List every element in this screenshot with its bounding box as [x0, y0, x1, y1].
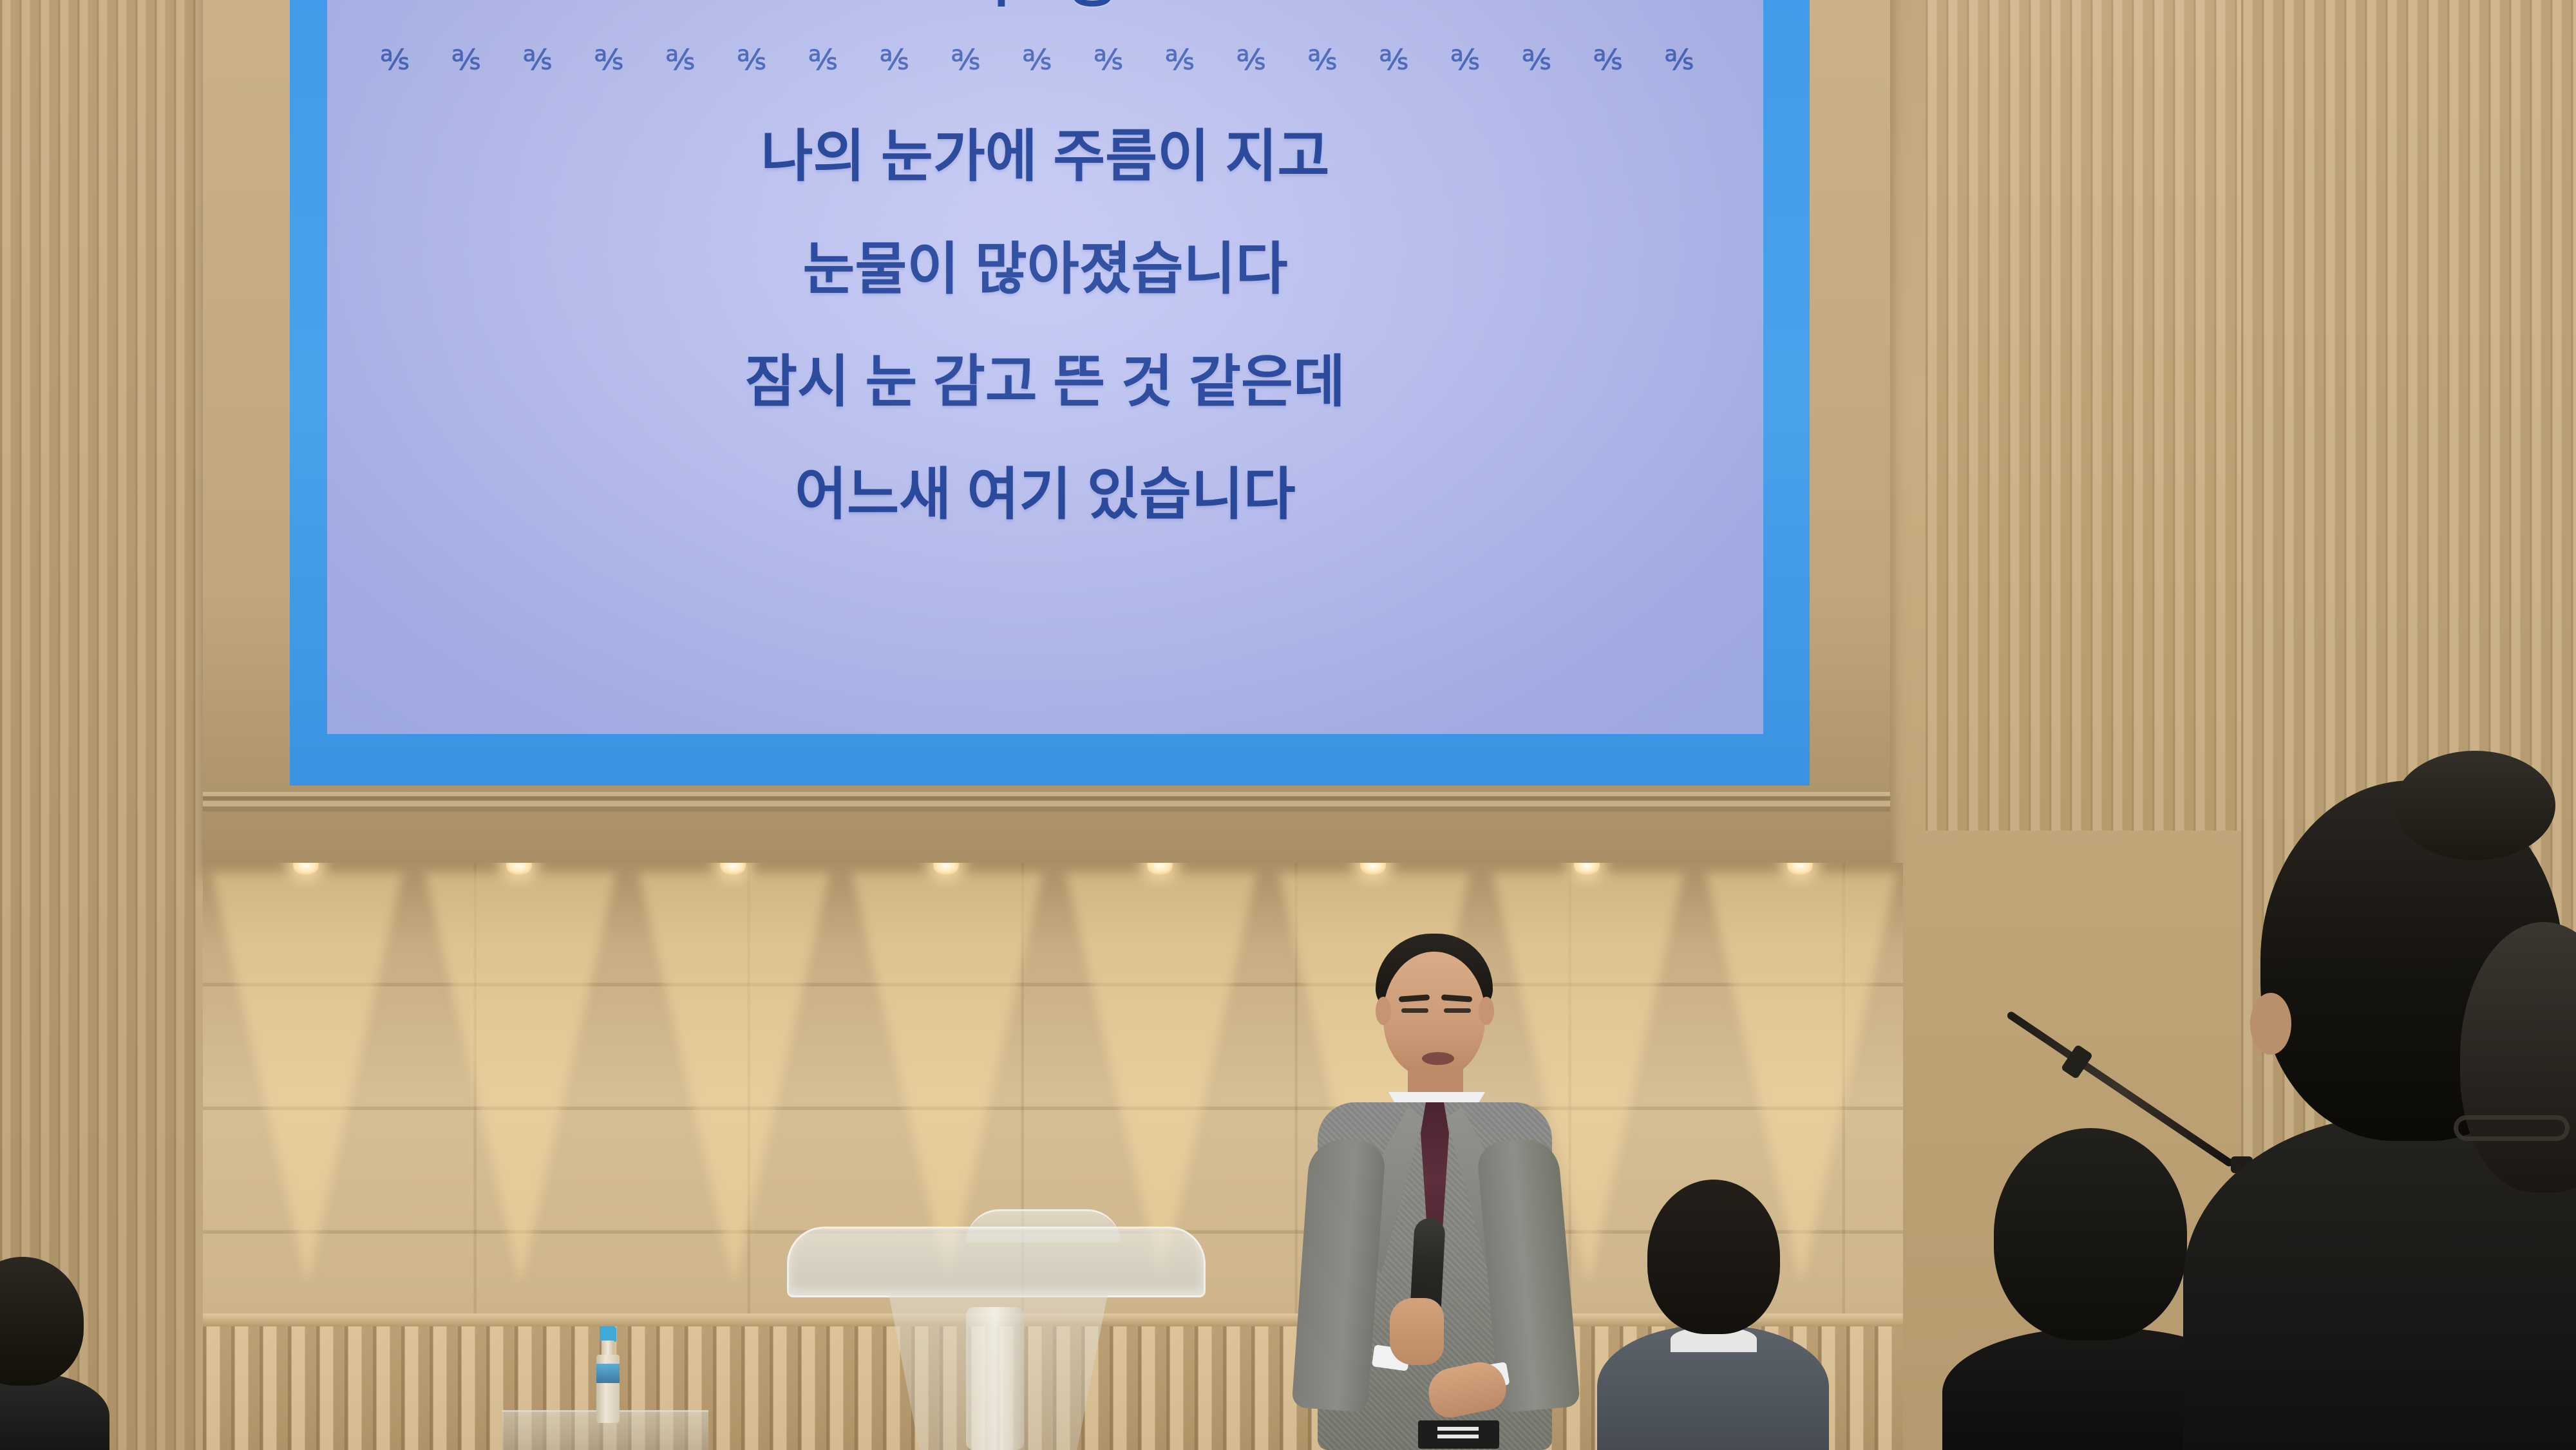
downlight-4	[927, 863, 965, 880]
audience-head	[2460, 922, 2576, 1192]
slide-line-2: 눈물이 많아졌습니다	[327, 212, 1763, 325]
downlight-bulb	[1574, 863, 1600, 874]
downlight-bulb	[1787, 863, 1813, 874]
downlight-bulb	[1147, 863, 1173, 874]
slide-body-text: 나의 눈가에 주름이 지고 눈물이 많아졌습니다 잠시 눈 감고 뜬 것 같은데…	[327, 100, 1763, 551]
presenter-eye-right	[1444, 1008, 1471, 1013]
slide-line-1: 나의 눈가에 주름이 지고	[327, 100, 1763, 212]
pulpit-stem	[966, 1307, 1024, 1450]
slide-line-3: 잠시 눈 감고 뜬 것 같은데	[327, 325, 1763, 438]
downlight-6	[1354, 863, 1392, 880]
downlight-2	[500, 863, 538, 880]
presenter-ear-right	[1479, 997, 1494, 1025]
downlight-beam	[639, 873, 829, 1285]
pulpit-top-surface	[787, 1227, 1206, 1297]
audience-hair-bun	[2394, 751, 2555, 860]
presenter-belt	[1418, 1420, 1499, 1449]
downlight-bulb	[720, 863, 746, 874]
audience-ear	[2250, 993, 2291, 1055]
slide-title: 여 정	[327, 0, 1763, 19]
downlight-beam	[212, 873, 402, 1285]
downlight-5	[1141, 863, 1179, 880]
downlight-beam	[425, 873, 616, 1285]
downlight-8	[1781, 863, 1819, 880]
water-bottle	[594, 1326, 622, 1423]
audience-member-4	[2460, 922, 2576, 1450]
presenter-mouth	[1422, 1052, 1454, 1065]
auditorium-scene: 여 정 ℁ ℁ ℁ ℁ ℁ ℁ ℁ ℁ ℁ ℁ ℁ ℁ ℁ ℁ ℁ ℁ ℁ ℁ …	[0, 0, 2576, 1450]
audience-head	[1994, 1128, 2187, 1341]
slide-ornamental-divider: ℁ ℁ ℁ ℁ ℁ ℁ ℁ ℁ ℁ ℁ ℁ ℁ ℁ ℁ ℁ ℁ ℁ ℁ ℁	[327, 44, 1763, 77]
presenter-ear-left	[1376, 997, 1391, 1025]
wood-slat-wall-center-right	[1926, 0, 2286, 831]
presenter-eye-left	[1401, 1008, 1428, 1013]
audience-head	[1647, 1180, 1780, 1334]
audience-glasses	[2454, 1115, 2570, 1141]
downlight-bulb	[1360, 863, 1386, 874]
presenter	[1275, 914, 1591, 1450]
projected-slide: 여 정 ℁ ℁ ℁ ℁ ℁ ℁ ℁ ℁ ℁ ℁ ℁ ℁ ℁ ℁ ℁ ℁ ℁ ℁ …	[327, 0, 1763, 734]
presenter-hand-left	[1390, 1298, 1444, 1365]
bottle-label	[596, 1364, 620, 1383]
downlight-bulb	[293, 863, 319, 874]
wood-slat-wall-left	[0, 0, 213, 1450]
audience-member-5	[0, 1257, 84, 1450]
downlight-1	[287, 863, 325, 880]
downlight-7	[1567, 863, 1606, 880]
audience-member-1	[1610, 1180, 1816, 1450]
bottle-cap	[600, 1326, 616, 1342]
frame-bevel-molding	[203, 792, 1890, 869]
audience-head	[0, 1257, 84, 1386]
slide-line-4: 어느새 여기 있습니다	[327, 438, 1763, 551]
downlight-3	[714, 863, 752, 880]
